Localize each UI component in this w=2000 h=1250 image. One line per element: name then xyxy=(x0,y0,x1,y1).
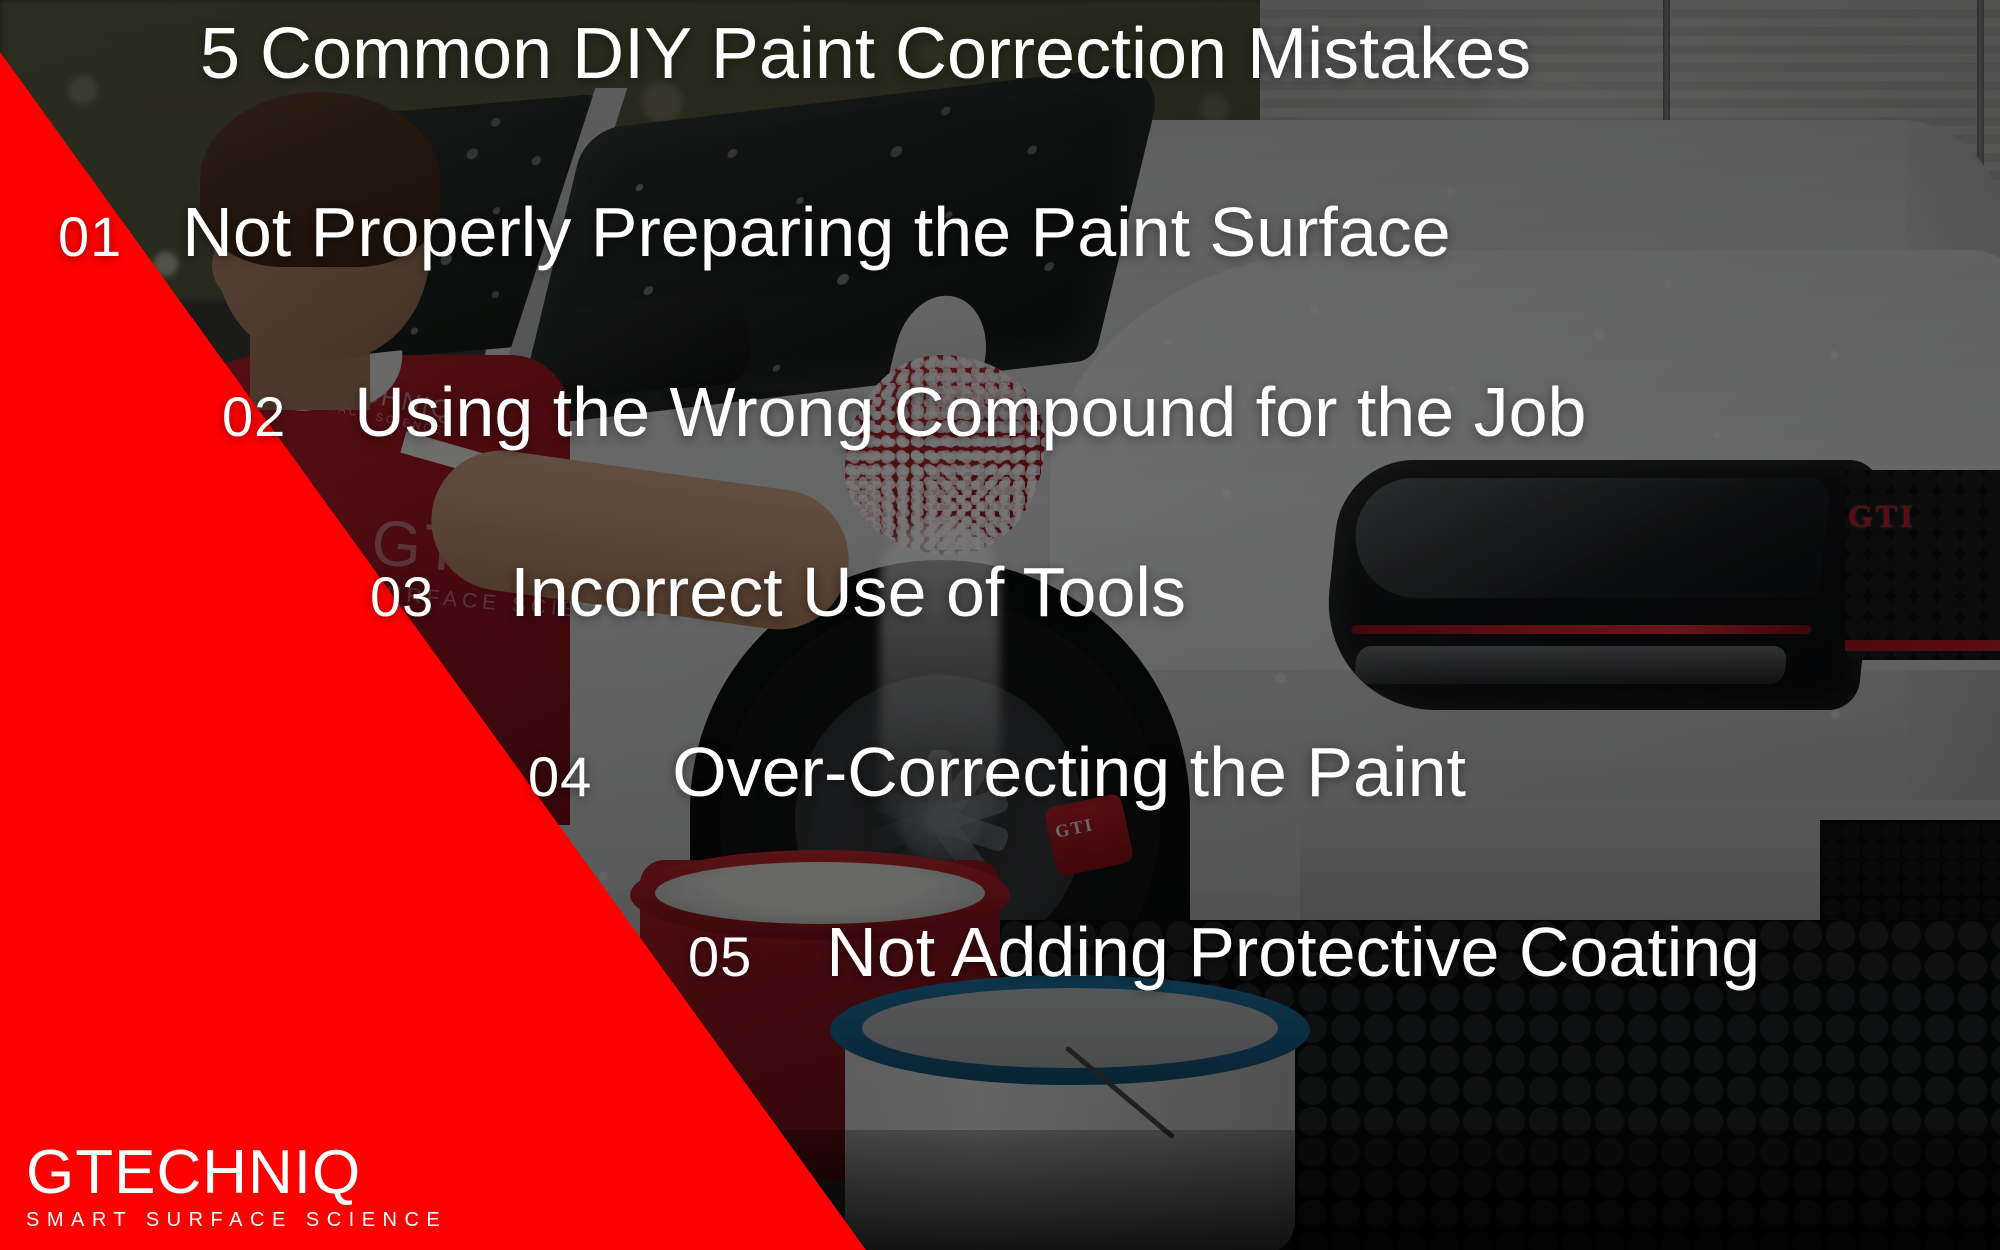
list-item-number: 01 xyxy=(58,204,122,269)
list-item-number: 04 xyxy=(528,744,592,809)
brand-logo-tagline: SMART SURFACE SCIENCE xyxy=(26,1209,447,1232)
list-item-label: Over-Correcting the Paint xyxy=(672,732,1466,812)
list-item-label: Incorrect Use of Tools xyxy=(510,552,1186,632)
list-item-label: Not Properly Preparing the Paint Surface xyxy=(182,192,1450,272)
list-item-label: Not Adding Protective Coating xyxy=(826,912,1760,992)
list-item-label: Using the Wrong Compound for the Job xyxy=(354,372,1586,452)
list-item: 04 Over-Correcting the Paint xyxy=(528,732,1466,812)
list-item: 05 Not Adding Protective Coating xyxy=(688,912,1760,992)
brand-logo-wordmark: GTECHNIQ xyxy=(26,1144,447,1203)
infographic-canvas: GTI GTI GTECHNIQ SURFACE SCIENCE GTECHNI… xyxy=(0,0,2000,1250)
list-item-number: 03 xyxy=(370,564,434,629)
list-item: 01 Not Properly Preparing the Paint Surf… xyxy=(58,192,1451,272)
list-item-number: 05 xyxy=(688,924,752,989)
list-item: 02 Using the Wrong Compound for the Job xyxy=(222,372,1586,452)
page-title: 5 Common DIY Paint Correction Mistakes xyxy=(200,18,1531,90)
list-item-number: 02 xyxy=(222,384,286,449)
brand-logo: GTECHNIQ SMART SURFACE SCIENCE xyxy=(26,1144,447,1232)
list-item: 03 Incorrect Use of Tools xyxy=(370,552,1186,632)
